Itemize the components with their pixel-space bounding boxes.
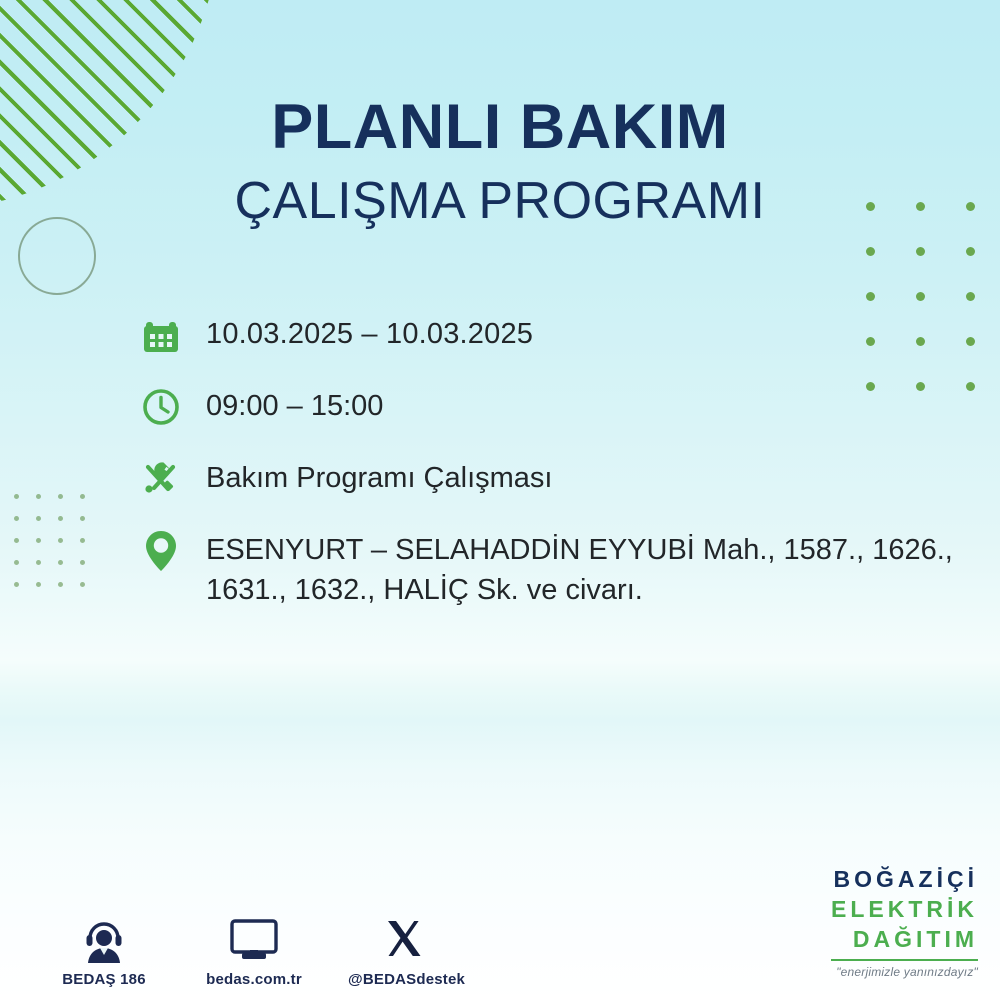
monitor-icon <box>198 912 310 964</box>
planned-maintenance-poster: PLANLI BAKIM ÇALIŞMA PROGRAMI 10.03.2025… <box>0 0 1000 1000</box>
brand-line-dagitim: DAĞITIM <box>831 928 978 951</box>
tools-icon <box>138 456 184 502</box>
contact-phone[interactable]: BEDAŞ 186 <box>48 912 160 988</box>
footer-contacts: BEDAŞ 186 bedas.com.tr @BEDASdestek <box>48 912 460 988</box>
detail-location-text: ESENYURT – SELAHADDİN EYYUBİ Mah., 1587.… <box>206 528 978 610</box>
bedas-logo: BOĞAZİÇİ ELEKTRİK DAĞITIM "enerjimizle y… <box>831 868 978 978</box>
contact-website[interactable]: bedas.com.tr <box>198 912 310 988</box>
detail-date-text: 10.03.2025 – 10.03.2025 <box>206 312 533 354</box>
circle-outline-decoration <box>18 217 96 295</box>
brand-line-elektrik: ELEKTRİK <box>831 898 978 921</box>
calendar-icon <box>138 312 184 358</box>
page-title: PLANLI BAKIM ÇALIŞMA PROGRAMI <box>0 96 1000 227</box>
maintenance-details-list: 10.03.2025 – 10.03.2025 09:00 – 15:00 <box>138 312 978 610</box>
detail-row-date: 10.03.2025 – 10.03.2025 <box>138 312 978 358</box>
clock-icon <box>138 384 184 430</box>
contact-phone-label: BEDAŞ 186 <box>48 971 160 988</box>
detail-time-text: 09:00 – 15:00 <box>206 384 383 426</box>
detail-row-work-type: Bakım Programı Çalışması <box>138 456 978 502</box>
brand-line-bogazici: BOĞAZİÇİ <box>831 868 978 891</box>
brand-slogan: "enerjimizle yanınızdayız" <box>831 966 978 978</box>
contact-x-social[interactable]: @BEDASdestek <box>348 912 460 988</box>
dot-grid-left-decoration <box>14 494 102 604</box>
detail-row-location: ESENYURT – SELAHADDİN EYYUBİ Mah., 1587.… <box>138 528 978 610</box>
x-twitter-icon <box>348 912 460 964</box>
title-primary: PLANLI BAKIM <box>0 96 1000 159</box>
detail-work-text: Bakım Programı Çalışması <box>206 456 552 498</box>
detail-row-time: 09:00 – 15:00 <box>138 384 978 430</box>
brand-divider <box>831 959 978 961</box>
title-secondary: ÇALIŞMA PROGRAMI <box>0 175 1000 227</box>
location-pin-icon <box>138 528 184 574</box>
contact-x-label: @BEDASdestek <box>348 971 460 988</box>
contact-website-label: bedas.com.tr <box>198 971 310 988</box>
headset-support-icon <box>48 912 160 964</box>
